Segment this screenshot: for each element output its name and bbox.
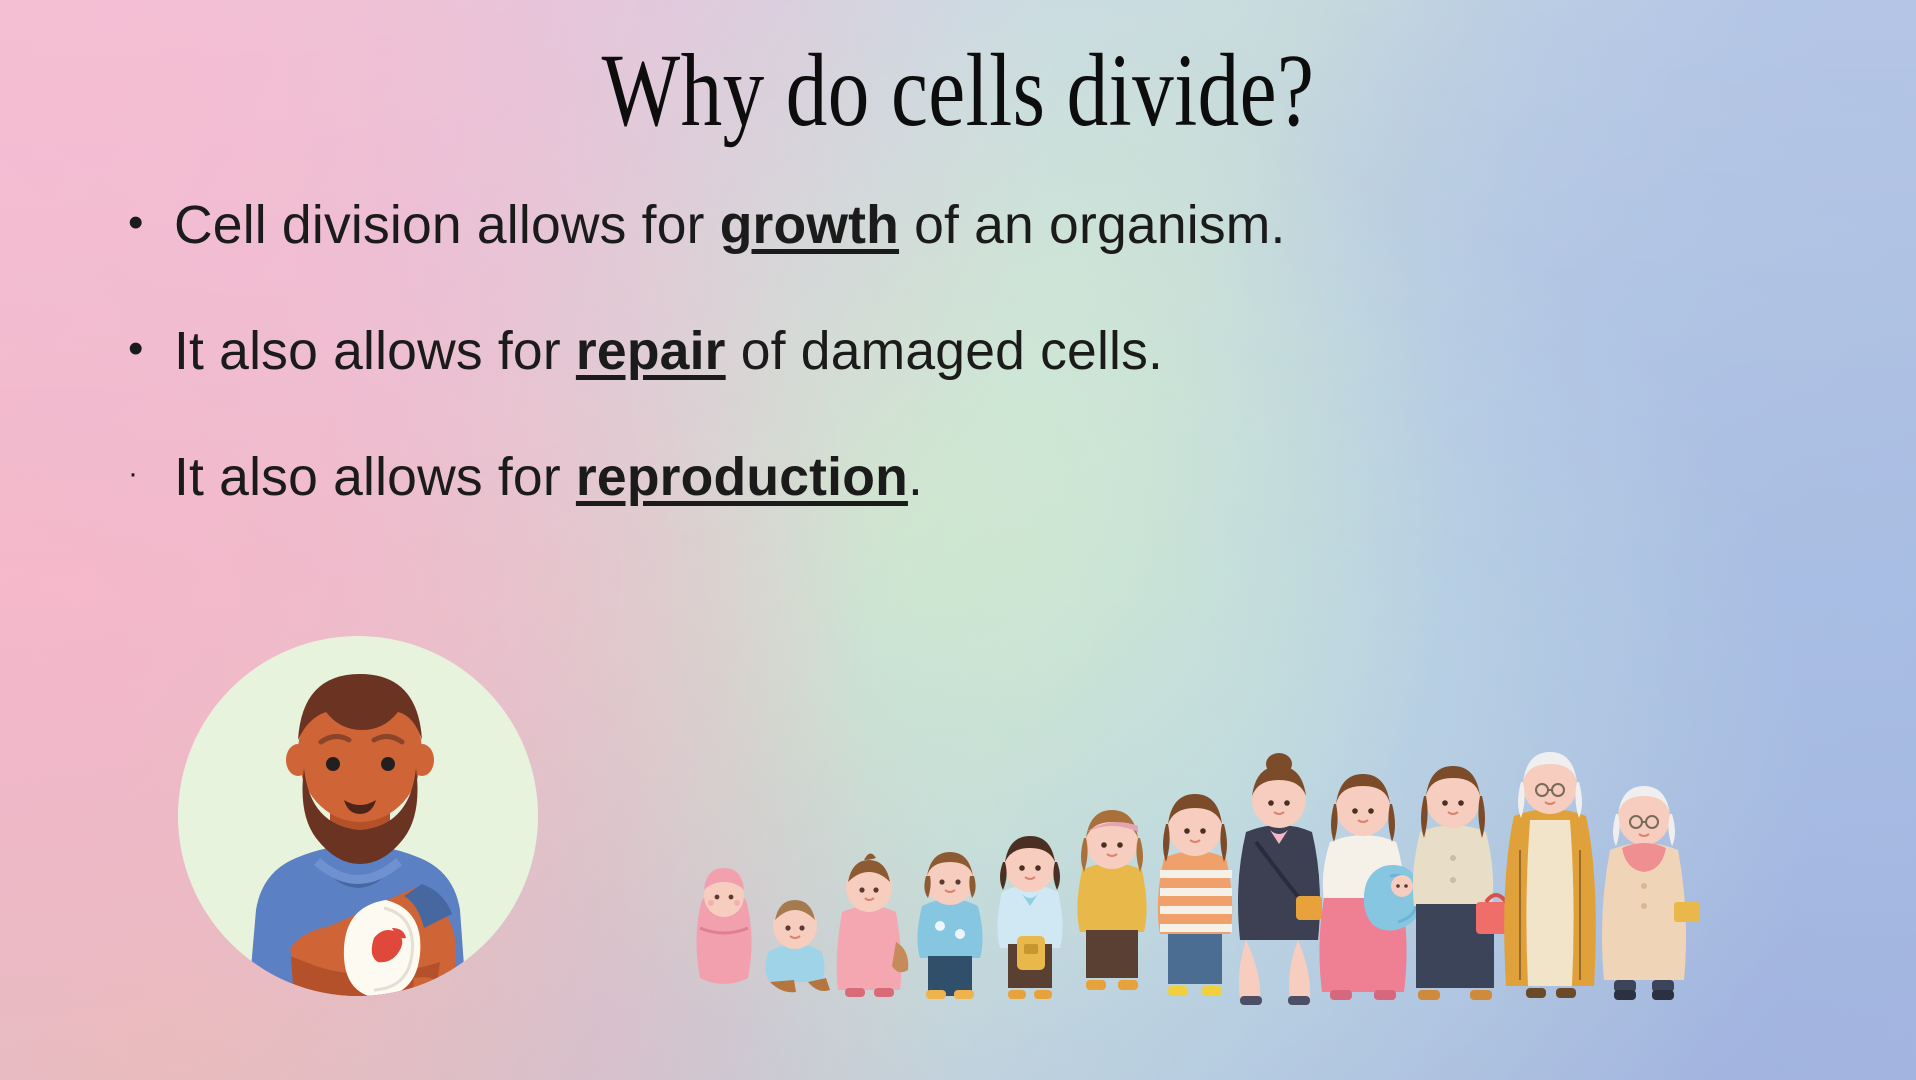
- figure-toddler: [837, 853, 909, 997]
- figure-elderly-woman: [1602, 786, 1700, 1000]
- figure-young-woman: [1238, 753, 1322, 1005]
- keyword-repair: repair: [576, 321, 726, 381]
- figure-middle-aged-woman: [1413, 766, 1516, 1000]
- bullet-item-repair: • It also allows for repair of damaged c…: [128, 324, 1828, 378]
- bullet-item-growth: • Cell division allows for growth of an …: [128, 198, 1828, 252]
- bullet-marker-icon: •: [128, 324, 170, 373]
- bullet-marker-icon: •: [128, 198, 170, 247]
- bullet-text-pre: It also allows for: [174, 447, 576, 507]
- bullet-text-pre: It also allows for: [174, 321, 576, 381]
- bullet-text-post: .: [908, 447, 923, 507]
- keyword-growth: growth: [720, 195, 899, 255]
- figure-older-child: [1077, 810, 1146, 990]
- slide-title: Why do cells divide?: [192, 36, 1725, 145]
- bullet-text-post: of damaged cells.: [726, 321, 1163, 381]
- injured-man-figure-icon: [178, 622, 538, 1026]
- bullet-marker-icon: ·: [128, 450, 170, 498]
- lifespan-figures-icon: [690, 690, 1800, 1020]
- bullet-item-reproduction: · It also allows for reproduction.: [128, 450, 1828, 504]
- bullet-text-reproduction: It also allows for reproduction.: [174, 450, 1811, 504]
- bullet-text-growth: Cell division allows for growth of an or…: [174, 198, 1811, 252]
- figure-senior-woman: [1504, 752, 1596, 998]
- figure-crawling-baby: [765, 900, 830, 992]
- keyword-reproduction: reproduction: [576, 447, 908, 507]
- figure-swaddled-newborn: [696, 868, 751, 984]
- bullet-list: • Cell division allows for growth of an …: [128, 198, 1828, 576]
- figure-schoolgirl: [997, 836, 1062, 999]
- figure-mother-with-baby: [1319, 774, 1421, 1000]
- injured-man-illustration: [178, 636, 538, 1026]
- figure-young-child: [917, 852, 982, 999]
- bullet-text-pre: Cell division allows for: [174, 195, 720, 255]
- slide-canvas: Why do cells divide? • Cell division all…: [0, 0, 1916, 1080]
- figure-teenager: [1158, 794, 1233, 996]
- bullet-text-post: of an organism.: [899, 195, 1286, 255]
- bullet-text-repair: It also allows for repair of damaged cel…: [174, 324, 1811, 378]
- human-lifespan-lineup: [690, 690, 1800, 1020]
